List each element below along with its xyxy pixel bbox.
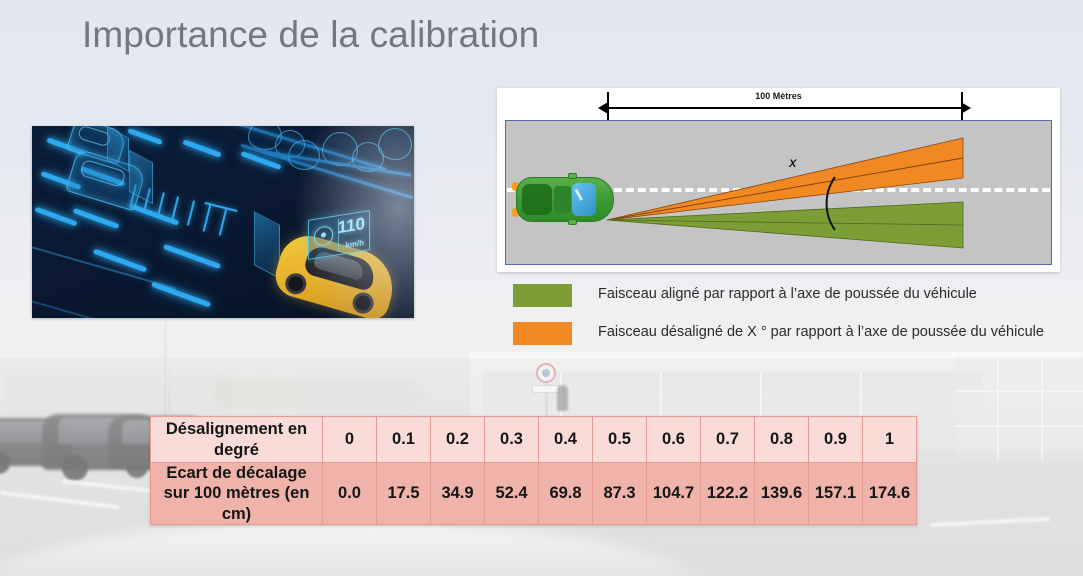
legend-swatch-green [513,284,572,307]
adas-illustration-image: 110 km/h [32,126,414,318]
vehicle-top-view [516,177,614,222]
table-cell-degree: 0 [323,417,377,463]
table-cell-degree: 0.4 [539,417,593,463]
adas-edge-glow [294,126,414,318]
table-cell-offset: 34.9 [431,463,485,525]
table-cell-offset: 174.6 [863,463,917,525]
table-cell-degree: 0.5 [593,417,647,463]
beam-alignment-diagram: 100 Mètres X [497,88,1060,272]
table-cell-offset: 17.5 [377,463,431,525]
dimension-label: 100 Mètres [497,91,1060,101]
slide-root: Importance de la calibration [0,0,1083,576]
table-cell-offset: 0.0 [323,463,377,525]
misalignment-offset-table: Désalignement en degré 0 0.1 0.2 0.3 0.4… [150,416,917,525]
vehicle-mirror [568,173,577,179]
legend-swatch-orange [513,322,572,345]
vehicle-windshield [572,183,596,216]
table-cell-offset: 139.6 [755,463,809,525]
table-cell-offset: 52.4 [485,463,539,525]
table-cell-offset: 87.3 [593,463,647,525]
table-cell-degree: 0.9 [809,417,863,463]
table-cell-degree: 0.6 [647,417,701,463]
legend-label-misaligned: Faisceau désaligné de X ° par rapport à … [598,324,1044,340]
legend-label-aligned: Faisceau aligné par rapport à l’axe de p… [598,286,977,302]
table-cell-degree: 0.2 [431,417,485,463]
table-row-offsets: Ecart de décalage sur 100 mètres (en cm)… [151,463,917,525]
vehicle-roof [554,186,571,213]
table-cell-degree: 1 [863,417,917,463]
table-cell-degree: 0.8 [755,417,809,463]
vehicle-mirror [568,219,577,225]
angle-label-x: X [789,158,796,170]
table-cell-degree: 0.7 [701,417,755,463]
table-row-header-degrees: Désalignement en degré [151,417,323,463]
table-cell-degree: 0.3 [485,417,539,463]
table-cell-offset: 157.1 [809,463,863,525]
dimension-double-arrow [607,107,962,109]
table-row-degrees: Désalignement en degré 0 0.1 0.2 0.3 0.4… [151,417,917,463]
table-row-header-offset: Ecart de décalage sur 100 mètres (en cm) [151,463,323,525]
vehicle-hood [522,184,552,215]
table-cell-offset: 104.7 [647,463,701,525]
table-cell-degree: 0.1 [377,417,431,463]
table-cell-offset: 69.8 [539,463,593,525]
page-title: Importance de la calibration [82,14,539,56]
table-cell-offset: 122.2 [701,463,755,525]
